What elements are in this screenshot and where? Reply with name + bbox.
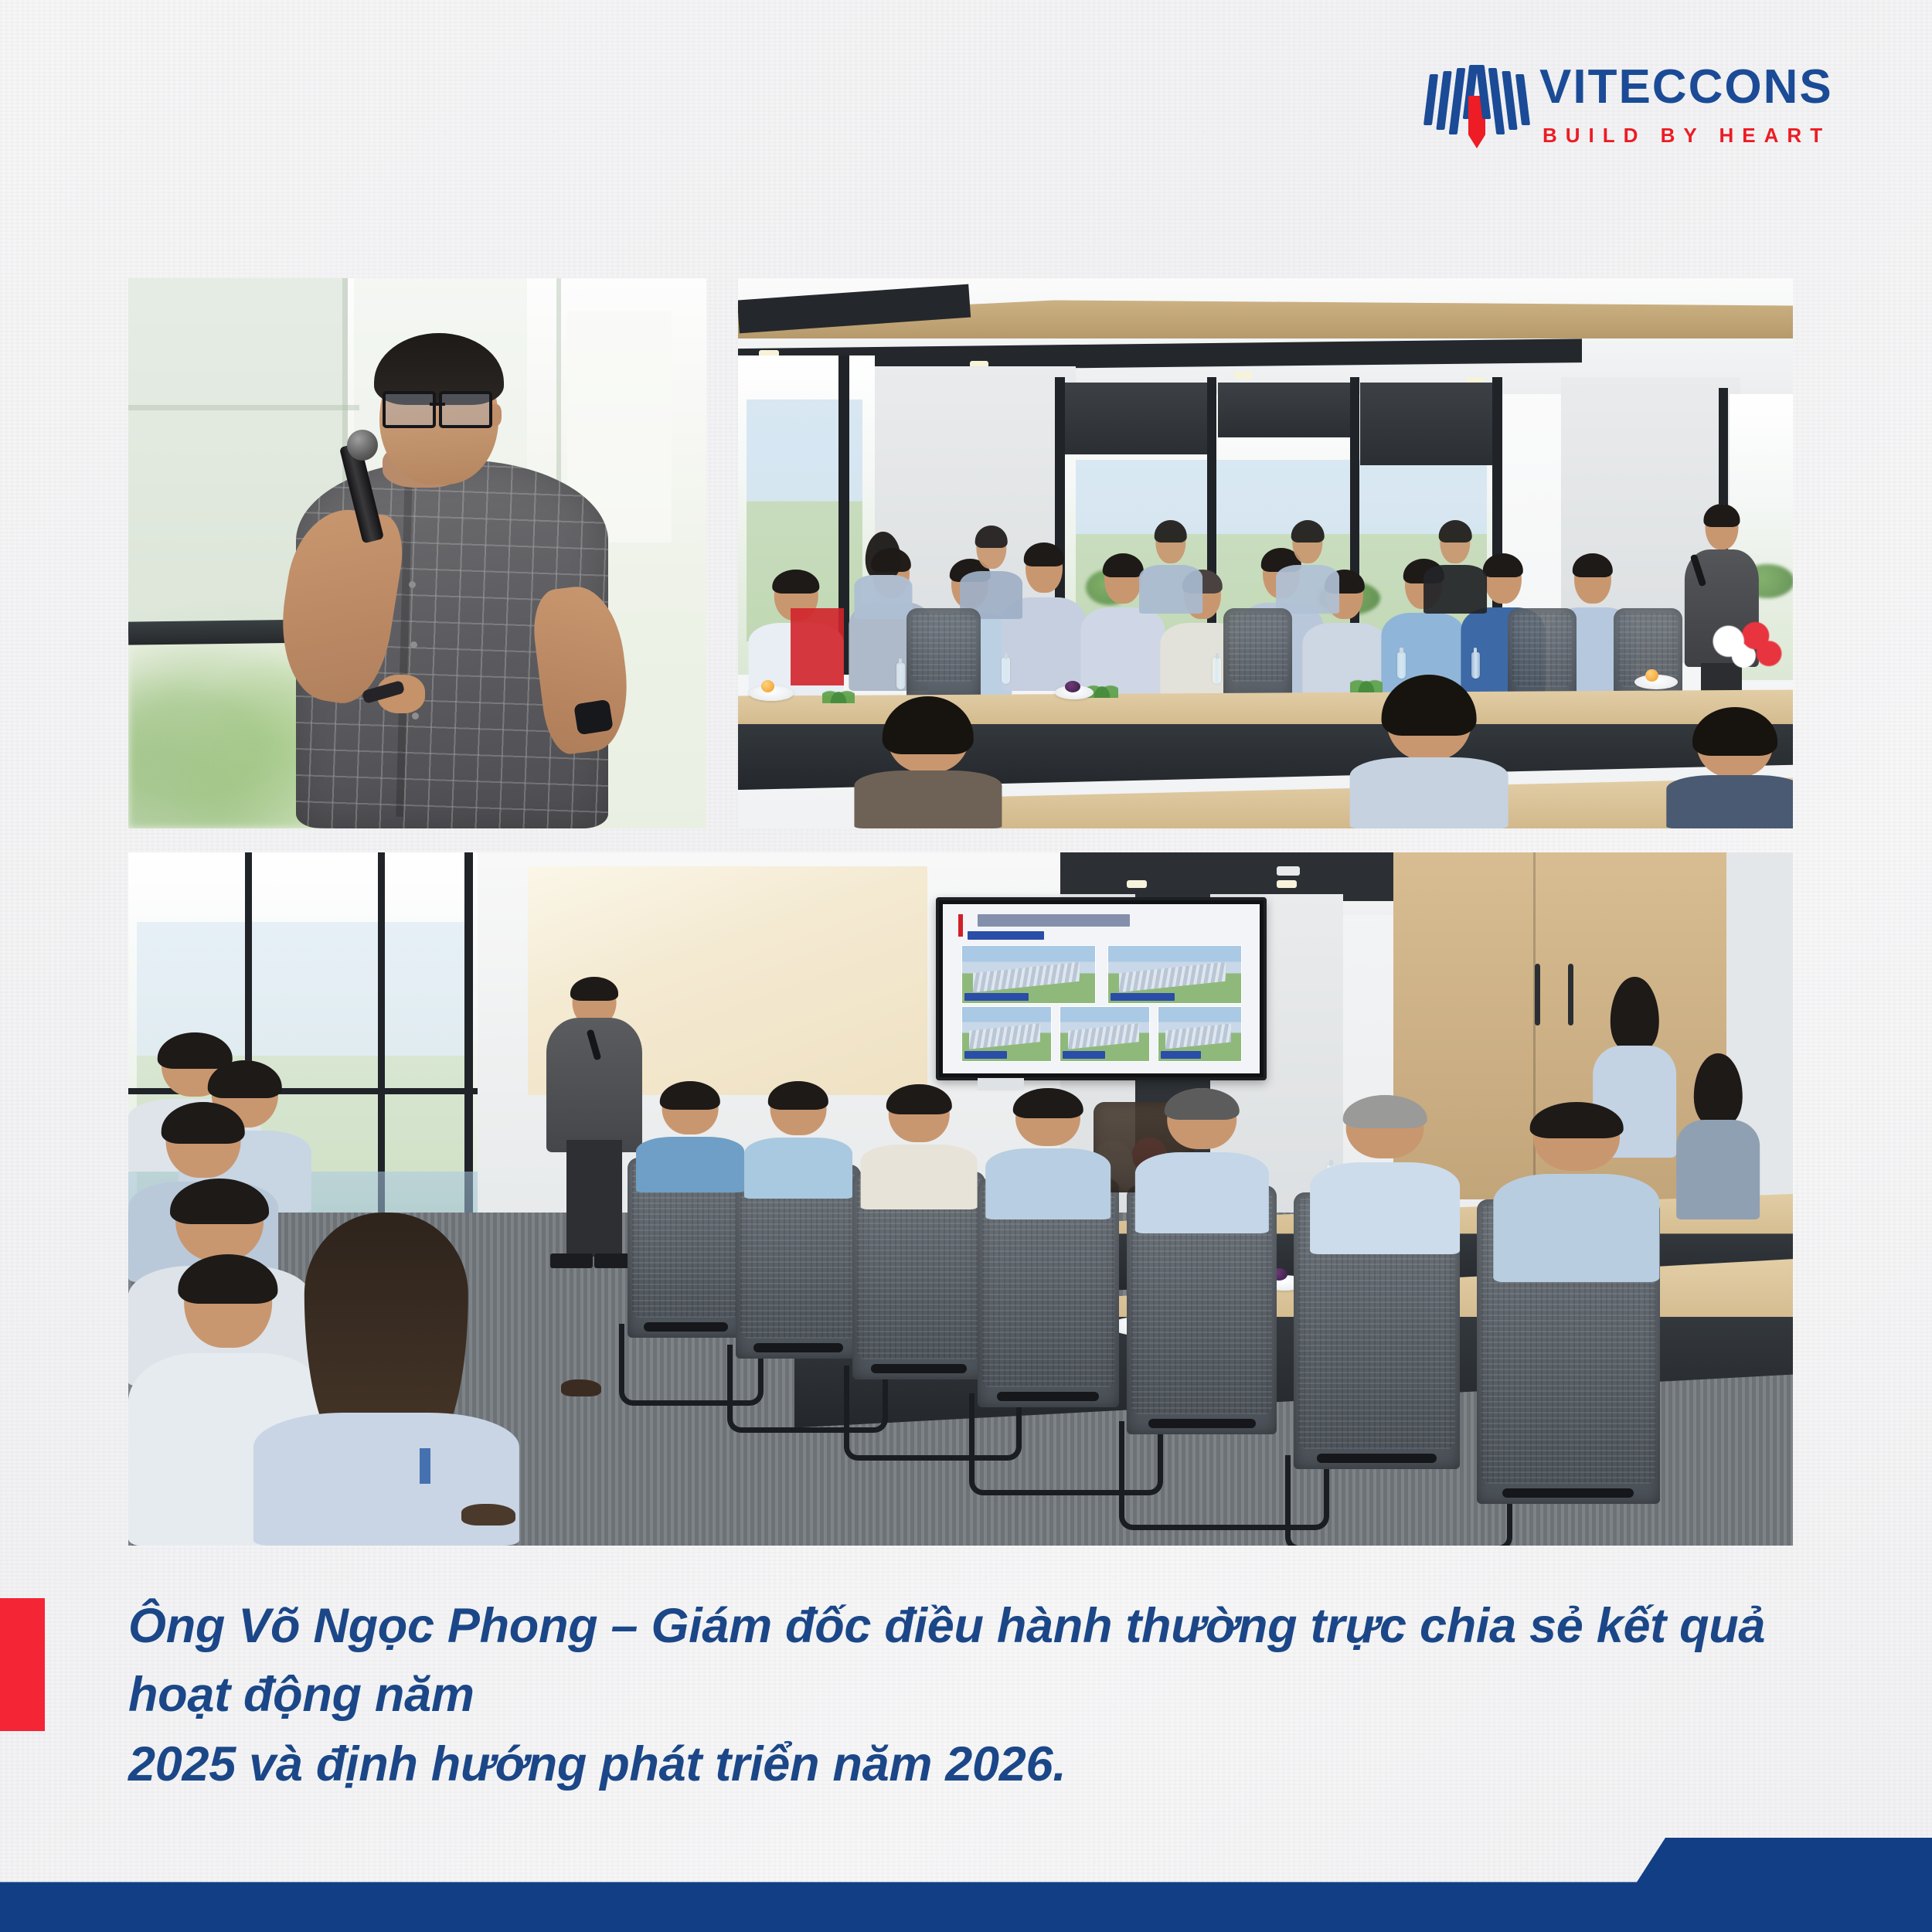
foreground-attendee [854, 696, 1002, 828]
door-handle [1568, 964, 1573, 1026]
slide-project-image [961, 1006, 1052, 1062]
attendee [1423, 520, 1487, 614]
flower-arrangement [1703, 619, 1787, 674]
red-seat [791, 608, 843, 685]
window-mullion [128, 405, 359, 410]
foreground-attendee [1666, 707, 1793, 828]
lanyard [420, 1448, 430, 1484]
seated-attendee [636, 1081, 744, 1192]
slide-title [978, 914, 1130, 926]
ceiling-light [1234, 372, 1253, 379]
table-plant [822, 680, 855, 703]
orange-fruit [761, 680, 774, 692]
viteccons-chevron-icon [1427, 63, 1526, 150]
photo-speaker[interactable] [128, 278, 706, 828]
photo-room-wide[interactable] [128, 852, 1793, 1546]
slide-project-image [1060, 1006, 1150, 1062]
seated-attendee [985, 1088, 1111, 1219]
water-bottle [896, 663, 905, 689]
slide-project-image [1158, 1006, 1242, 1062]
water-bottle [1002, 658, 1010, 684]
ceiling-light [1127, 880, 1147, 888]
window-shade [1360, 383, 1497, 465]
lens-left [383, 391, 436, 428]
shoe [561, 1379, 601, 1396]
door-handle [1535, 964, 1540, 1026]
attendee [960, 526, 1023, 619]
chair [906, 608, 981, 702]
standing-speaker [1682, 504, 1761, 713]
seated-attendee [1493, 1102, 1659, 1282]
chair [1223, 608, 1292, 702]
ceiling-sensor [1277, 866, 1300, 876]
caption-line-2: 2025 và định hướng phát triển năm 2026. [128, 1730, 1798, 1799]
accent-bar [0, 1598, 45, 1731]
caption-line-1: Ông Võ Ngọc Phong – Giám đốc điều hành t… [128, 1592, 1798, 1730]
seated-attendee [1135, 1088, 1268, 1233]
shirt-button [410, 641, 417, 648]
microphone-head [347, 430, 378, 461]
attendee-female [854, 532, 912, 620]
shoe [461, 1504, 515, 1526]
viteccons-logo[interactable]: VITECCONS BUILD BY HEART [1427, 60, 1801, 153]
seated-attendee [861, 1084, 978, 1209]
slide-content [943, 904, 1260, 1073]
lens-right [439, 391, 492, 428]
caption-text: Ông Võ Ngọc Phong – Giám đốc điều hành t… [128, 1592, 1798, 1799]
seated-attendee-female [1676, 1053, 1760, 1219]
photo-room-top[interactable] [738, 278, 1793, 828]
logo-tagline: BUILD BY HEART [1543, 125, 1831, 145]
seated-attendee [1310, 1095, 1460, 1254]
presentation-display [936, 897, 1267, 1080]
ceiling-light [1277, 880, 1297, 888]
foreground-attendee [1350, 675, 1509, 828]
slide-subtitle [968, 931, 1043, 940]
eyeglasses-icon [383, 391, 492, 422]
orange-fruit [1645, 669, 1658, 682]
foreground-attendee-female [245, 1213, 528, 1546]
logo-wordmark: VITECCONS [1539, 63, 1833, 111]
wristwatch [573, 699, 614, 736]
water-bottle [1213, 658, 1221, 684]
slide-accent-bar [958, 914, 963, 936]
glasses-bridge [430, 403, 445, 406]
shirt-button [409, 581, 416, 588]
slide-project-image [1107, 945, 1242, 1004]
slide-project-image [961, 945, 1096, 1004]
attendee [1139, 520, 1202, 614]
window-shade [1218, 383, 1355, 437]
window-shade [1065, 383, 1213, 454]
attendee [1276, 520, 1339, 614]
seated-attendee [744, 1081, 852, 1199]
